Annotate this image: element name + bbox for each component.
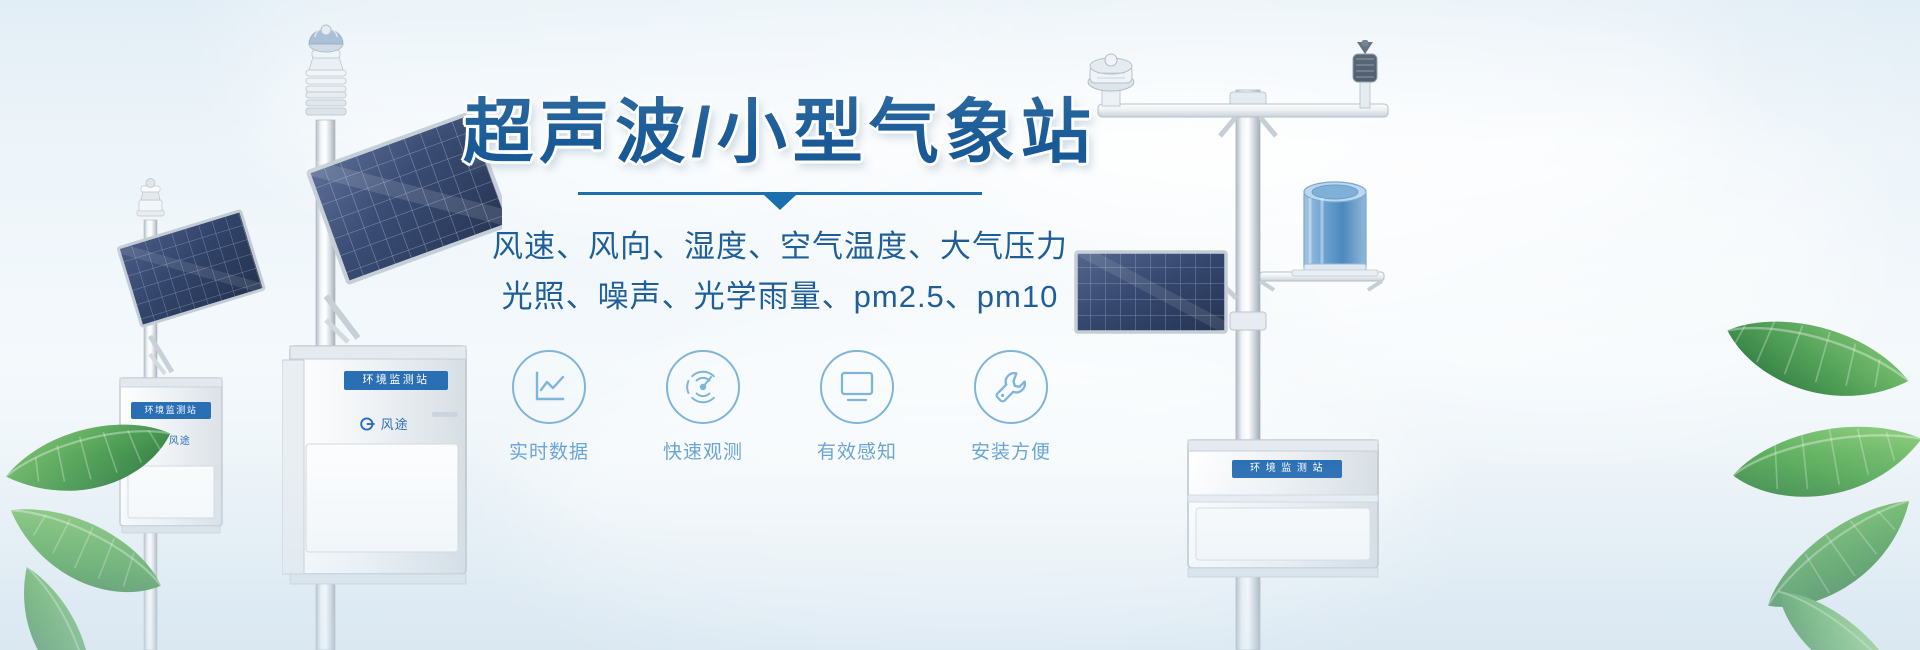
feature-label: 实时数据 — [509, 437, 589, 464]
monitor-icon — [837, 369, 877, 405]
feature-label: 快速观测 — [663, 437, 743, 464]
feature-item-fast-observation[interactable]: 快速观测 — [648, 350, 758, 464]
feature-icon-circle — [512, 350, 586, 424]
title-divider — [578, 188, 982, 206]
divider-triangle-icon — [764, 195, 796, 210]
radar-signal-icon — [683, 367, 723, 407]
feature-icon-circle — [974, 350, 1048, 424]
cabinet-label-3: 环 境 监 测 站 — [1232, 460, 1342, 478]
tropical-leaf-right — [1638, 292, 1920, 650]
feature-icon-circle — [666, 350, 740, 424]
subtitle-line-2: 光照、噪声、光学雨量、pm2.5、pm10 — [430, 272, 1130, 322]
feature-label: 有效感知 — [817, 437, 897, 464]
page-title: 超声波/小型气象站 — [430, 96, 1130, 170]
brand-logo-icon — [360, 417, 376, 431]
subtitle-block: 风速、风向、湿度、空气温度、大气压力 光照、噪声、光学雨量、pm2.5、pm10 — [430, 222, 1130, 322]
ultrasonic-sensor-head — [137, 179, 164, 217]
banner-copy: 超声波/小型气象站 风速、风向、湿度、空气温度、大气压力 光照、噪声、光学雨量、… — [430, 96, 1130, 464]
feature-item-realtime-data[interactable]: 实时数据 — [494, 350, 604, 464]
feature-item-easy-installation[interactable]: 安装方便 — [956, 350, 1066, 464]
rain-gauge — [1260, 182, 1384, 290]
subtitle-line-1: 风速、风向、湿度、空气温度、大气压力 — [430, 222, 1130, 272]
line-chart-icon — [530, 368, 568, 406]
solar-panel — [118, 211, 264, 327]
feature-item-effective-sensing[interactable]: 有效感知 — [802, 350, 912, 464]
feature-icon-circle — [820, 350, 894, 424]
radiation-shield-sensor — [306, 25, 346, 115]
wrench-icon — [991, 367, 1031, 407]
wind-vane-sensor — [1353, 40, 1377, 108]
tropical-leaf-left — [0, 324, 230, 650]
feature-label: 安装方便 — [971, 437, 1051, 464]
product-banner: 环境监测站 风途 — [0, 0, 1920, 650]
feature-list: 实时数据 快 — [430, 350, 1130, 464]
brand-text-2: 风途 — [381, 417, 409, 432]
brand-mark-2: 风途 — [360, 414, 409, 433]
